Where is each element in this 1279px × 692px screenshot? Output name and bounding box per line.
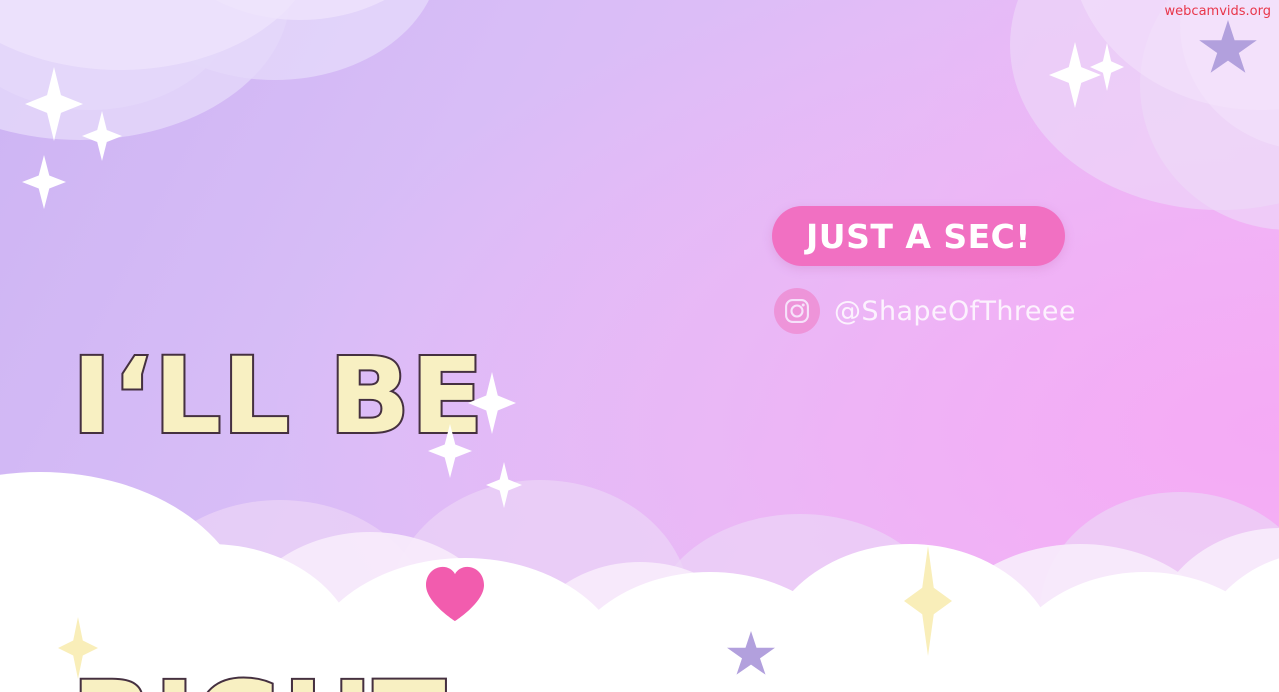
cloud-blob — [1190, 552, 1279, 692]
cloud-blob — [1000, 572, 1279, 692]
sparkle-icon — [22, 155, 66, 209]
cloud-blob — [0, 0, 320, 70]
sparkle-icon — [486, 462, 522, 508]
cloud-blob — [110, 0, 440, 80]
cloud-blob — [560, 572, 860, 692]
star-icon — [1198, 20, 1258, 78]
instagram-icon[interactable] — [774, 288, 820, 334]
star-icon — [726, 631, 776, 679]
sparkle-icon — [1049, 42, 1101, 108]
headline-line-1: I‘LL BE — [72, 342, 484, 450]
cloud-blob — [150, 0, 450, 20]
cloud-blob — [1010, 0, 1279, 210]
sparkle-icon — [1090, 43, 1124, 91]
cloud-blob — [930, 544, 1230, 692]
stream-overlay-canvas: I‘LL BE RIGHT BACK JUST A SEC! @ShapeOfT… — [0, 0, 1279, 692]
cloud-blob — [0, 0, 290, 140]
cloud-blob — [1040, 492, 1279, 692]
status-badge-label: JUST A SEC! — [806, 217, 1031, 256]
sparkle-icon — [904, 546, 952, 656]
cloud-blob — [650, 514, 950, 692]
social-handle-row[interactable]: @ShapeOfThreee — [774, 288, 1076, 334]
site-watermark: webcamvids.org — [1165, 4, 1271, 19]
cloud-blob — [0, 0, 240, 110]
cloud-blob — [1180, 0, 1279, 150]
cloud-blob — [1150, 528, 1279, 692]
cloud-blob — [1140, 0, 1279, 230]
social-handle-label: @ShapeOfThreee — [834, 296, 1076, 327]
headline-line-2: RIGHT — [72, 666, 484, 692]
page-title: I‘LL BE RIGHT BACK — [72, 126, 484, 692]
status-badge[interactable]: JUST A SEC! — [772, 206, 1065, 266]
info-column: JUST A SEC! @ShapeOfThreee — [772, 206, 1076, 334]
cloud-blob — [760, 544, 1060, 692]
cloud-blob — [520, 562, 760, 692]
